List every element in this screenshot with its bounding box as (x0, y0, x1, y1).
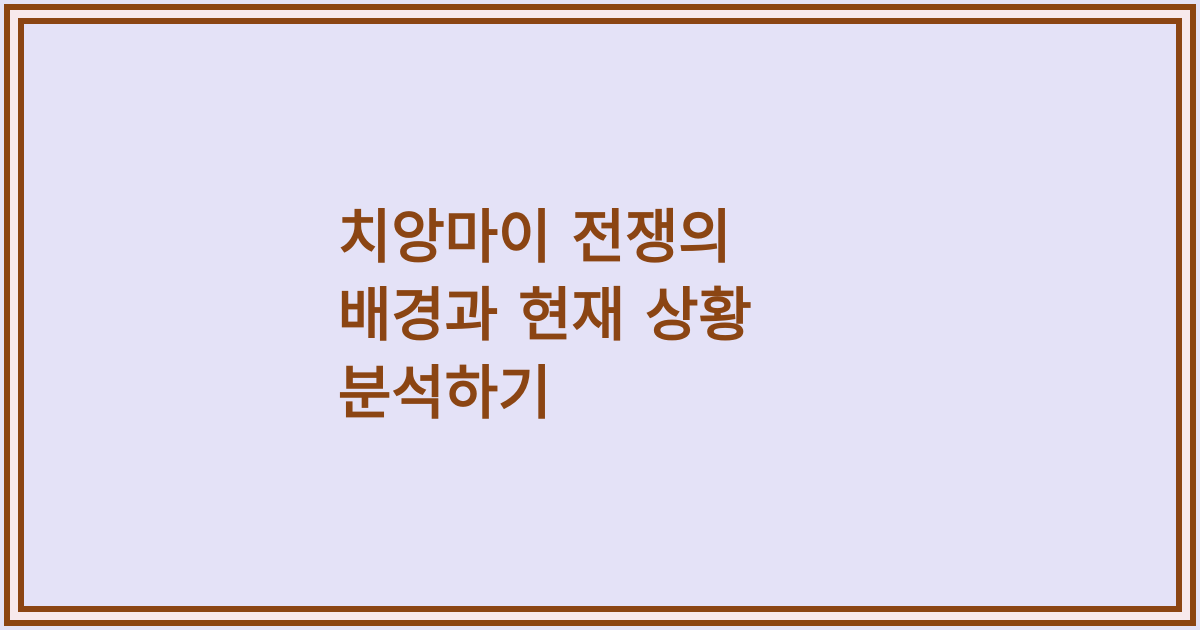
page-title: 치앙마이 전쟁의 배경과 현재 상황 분석하기 (338, 198, 752, 432)
content-area: 치앙마이 전쟁의 배경과 현재 상황 분석하기 (24, 24, 1176, 606)
thumbnail-card: 치앙마이 전쟁의 배경과 현재 상황 분석하기 (0, 0, 1200, 630)
title-line-3: 분석하기 (338, 354, 752, 432)
title-line-2: 배경과 현재 상황 (338, 276, 752, 354)
title-line-1: 치앙마이 전쟁의 (338, 198, 752, 276)
